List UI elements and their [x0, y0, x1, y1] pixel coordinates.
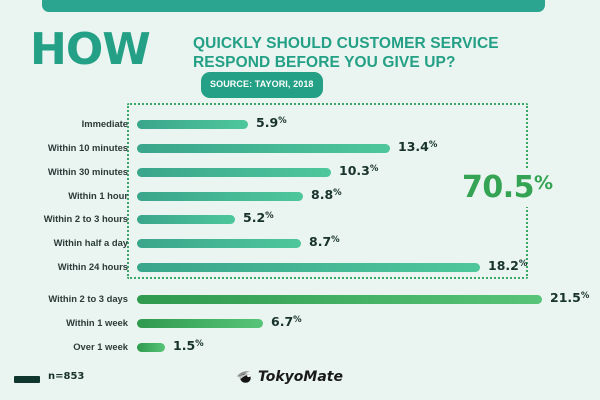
bar-value-unit: %: [333, 188, 342, 198]
table-row: Within 2 to 3 days21.5%: [0, 295, 600, 307]
bar-category-label: Within 10 minutes: [0, 142, 128, 153]
brand-logo: TokyoMate: [258, 369, 343, 385]
bar: [137, 239, 301, 248]
bar-value: 5.9: [256, 115, 278, 130]
bar-value-unit: %: [370, 164, 379, 174]
bar-value-label: 13.4%: [398, 139, 437, 154]
bar-value-label: 5.2%: [243, 210, 274, 225]
bar-value-unit: %: [195, 339, 204, 349]
headline-line-1: QUICKLY SHOULD CUSTOMER SERVICE: [193, 35, 499, 52]
bar-chart: 70.5% Immediate5.9%Within 10 minutes13.4…: [0, 103, 600, 358]
bar: [137, 192, 303, 201]
table-row: Within 10 minutes13.4%: [0, 144, 600, 156]
bar-value: 18.2: [488, 258, 519, 273]
bar-value-label: 8.7%: [309, 234, 340, 249]
bar-value: 8.8: [311, 187, 333, 202]
table-row: Over 1 week1.5%: [0, 343, 600, 355]
bar: [137, 263, 480, 272]
bar-category-label: Within 2 to 3 hours: [0, 213, 128, 224]
bar-value-label: 18.2%: [488, 258, 527, 273]
bar-value-unit: %: [429, 140, 438, 150]
bar: [137, 215, 235, 224]
bar-value: 10.3: [339, 163, 370, 178]
bar: [137, 144, 390, 153]
bar-category-label: Within 2 to 3 days: [0, 293, 128, 304]
bar-category-label: Immediate: [0, 118, 128, 129]
headline-line-2: RESPOND BEFORE YOU GIVE UP?: [193, 53, 456, 72]
bar-value: 21.5: [550, 290, 581, 305]
bar-value-unit: %: [265, 211, 274, 221]
tokyomate-mark-icon: [236, 370, 254, 384]
bar-value-label: 10.3%: [339, 163, 378, 178]
bar-value-label: 8.8%: [311, 187, 342, 202]
bar-category-label: Within half a day: [0, 237, 128, 248]
bar-value-label: 6.7%: [271, 314, 302, 329]
bar-value-label: 21.5%: [550, 290, 589, 305]
bar-category-label: Within 1 week: [0, 317, 128, 328]
page-kicker: HOW: [30, 28, 150, 72]
bar-value-unit: %: [278, 116, 287, 126]
table-row: Within 24 hours18.2%: [0, 263, 600, 275]
bar-category-label: Over 1 week: [0, 341, 128, 352]
bar: [137, 168, 331, 177]
bar-value: 6.7: [271, 314, 293, 329]
group-total-value: 70.5: [462, 170, 534, 205]
source-badge: Source: Tayori, 2018: [201, 72, 323, 98]
bar: [137, 120, 248, 129]
bar-value: 13.4: [398, 139, 429, 154]
sample-size-label: n=853: [48, 371, 84, 382]
bar-category-label: Within 24 hours: [0, 261, 128, 272]
brand-name: TokyoMate: [258, 369, 343, 385]
page-title: QUICKLY SHOULD CUSTOMER SERVICE RESPOND …: [193, 34, 575, 98]
legend-swatch: [14, 376, 40, 383]
footer: n=853 TokyoMate: [0, 358, 600, 400]
table-row: Within half a day8.7%: [0, 239, 600, 251]
group-total-callout: 70.5%: [456, 168, 559, 207]
group-total-percent: %: [534, 172, 553, 194]
bar-value-unit: %: [519, 259, 528, 269]
bar-value: 1.5: [173, 338, 195, 353]
infographic-root: HOW QUICKLY SHOULD CUSTOMER SERVICE RESP…: [0, 0, 600, 400]
bar: [137, 295, 542, 304]
bar: [137, 343, 165, 352]
bar-value-unit: %: [293, 315, 302, 325]
bar-value-label: 5.9%: [256, 115, 287, 130]
table-row: Immediate5.9%: [0, 120, 600, 132]
bar-value: 8.7: [309, 234, 331, 249]
table-row: Within 2 to 3 hours5.2%: [0, 215, 600, 227]
bar-category-label: Within 1 hour: [0, 190, 128, 201]
bar-category-label: Within 30 minutes: [0, 166, 128, 177]
bar-value-label: 1.5%: [173, 338, 204, 353]
bar-value: 5.2: [243, 210, 265, 225]
top-accent-bar: [42, 0, 545, 12]
bar: [137, 319, 263, 328]
bar-value-unit: %: [331, 235, 340, 245]
table-row: Within 1 week6.7%: [0, 319, 600, 331]
bar-value-unit: %: [581, 291, 590, 301]
